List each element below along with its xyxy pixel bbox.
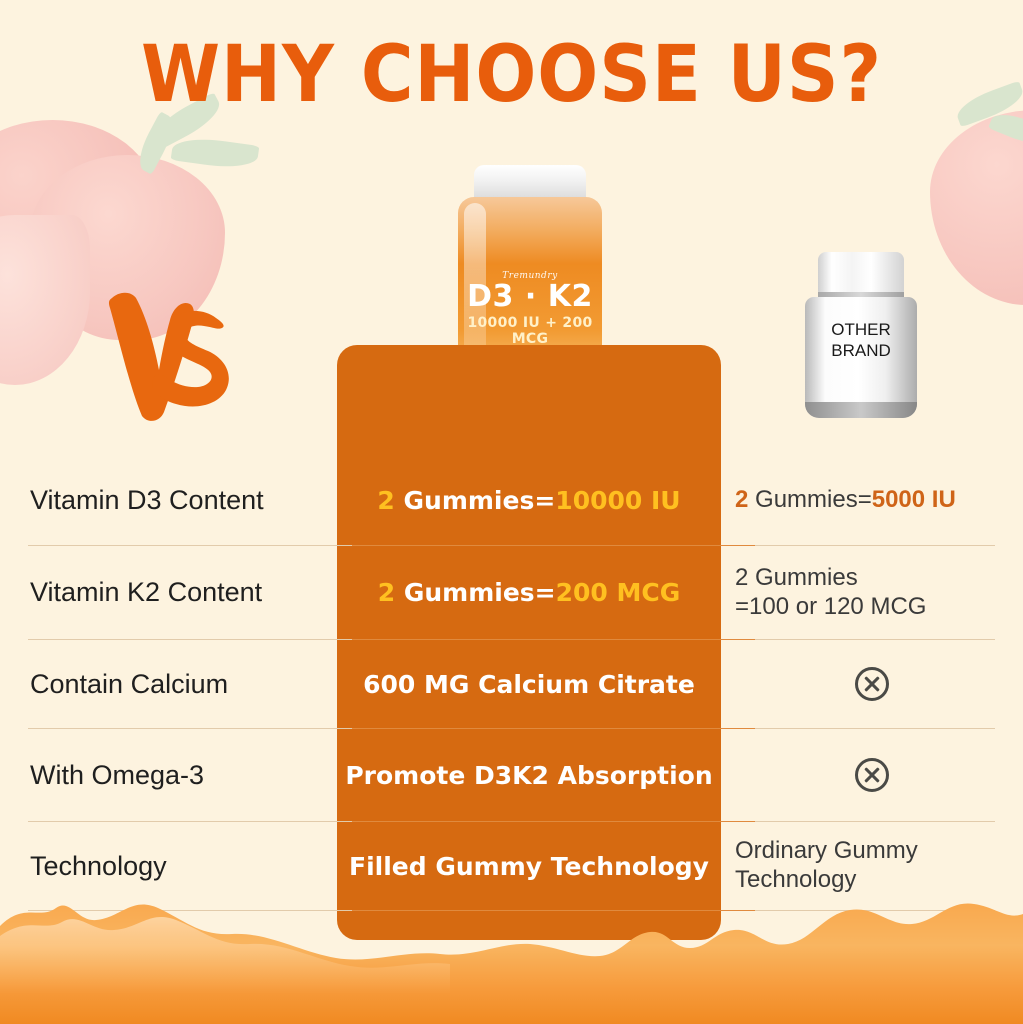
strawberry-decoration-right	[930, 110, 1023, 305]
table-row: Contain Calcium 600 MG Calcium Citrate	[0, 640, 1023, 728]
our-value-mid: Gummies=	[395, 486, 555, 515]
other-value: 2 Gummies=5000 IU	[721, 455, 1023, 545]
other-brand-bottle-cap	[818, 252, 904, 294]
our-value-qty: 2	[377, 486, 394, 515]
feature-label: Contain Calcium	[0, 640, 337, 728]
our-value: Filled Gummy Technology	[337, 822, 721, 910]
table-row: Vitamin K2 Content 2 Gummies=200 MCG 2 G…	[0, 546, 1023, 639]
our-value-amount: 10000 IU	[555, 486, 680, 515]
vs-badge	[96, 278, 236, 428]
product-dose: 10000 IU + 200 MCG	[458, 315, 602, 347]
circle-x-icon	[855, 758, 889, 792]
other-brand-bottle-base	[805, 402, 917, 418]
other-brand-label: OTHER BRAND	[801, 320, 921, 361]
strawberry-leaf-left-b	[171, 134, 260, 172]
strawberry-leaf-left-c	[132, 111, 180, 174]
comparison-table: Vitamin D3 Content 2 Gummies=10000 IU 2 …	[0, 455, 1023, 911]
our-value: 2 Gummies=200 MCG	[337, 546, 721, 639]
other-brand-label-line-1: OTHER	[801, 320, 921, 341]
table-row: With Omega-3 Promote D3K2 Absorption	[0, 729, 1023, 821]
strawberry-decoration-left-c	[0, 215, 90, 385]
row-divider	[28, 910, 995, 911]
strawberry-leaf-right-b	[988, 108, 1023, 151]
our-value-amount: 200 MCG	[556, 578, 681, 607]
infographic-stage: WHY CHOOSE US? Tremundry D3 ·	[0, 0, 1023, 1024]
our-value: Promote D3K2 Absorption	[337, 729, 721, 821]
other-value	[721, 729, 1023, 821]
circle-x-icon	[855, 667, 889, 701]
our-value: 2 Gummies=10000 IU	[337, 455, 721, 545]
our-value: 600 MG Calcium Citrate	[337, 640, 721, 728]
other-value-amount: 5000 IU	[872, 486, 956, 513]
other-value-line-2: Technology	[735, 866, 856, 893]
other-value-qty: 2	[735, 486, 748, 513]
feature-label: Technology	[0, 822, 337, 910]
other-value-line-1: 2 Gummies	[735, 564, 858, 591]
page-title: WHY CHOOSE US?	[41, 36, 982, 114]
table-row: Technology Filled Gummy Technology Ordin…	[0, 822, 1023, 910]
other-value-mid: Gummies=	[748, 486, 871, 513]
product-name: D3 · K2	[458, 281, 602, 313]
feature-label: Vitamin K2 Content	[0, 546, 337, 639]
table-row: Vitamin D3 Content 2 Gummies=10000 IU 2 …	[0, 455, 1023, 545]
other-value-line-2: =100 or 120 MCG	[735, 593, 926, 620]
other-value: 2 Gummies =100 or 120 MCG	[721, 546, 1023, 639]
feature-label: Vitamin D3 Content	[0, 455, 337, 545]
our-value-mid: Gummies=	[395, 578, 555, 607]
product-bottle-cap	[474, 165, 586, 201]
feature-label: With Omega-3	[0, 729, 337, 821]
product-brand-name: Tremundry	[458, 271, 602, 281]
other-brand-label-line-2: BRAND	[801, 341, 921, 362]
other-brand-bottle: OTHER BRAND	[801, 252, 921, 418]
our-value-qty: 2	[378, 578, 395, 607]
other-value	[721, 640, 1023, 728]
other-value-line-1: Ordinary Gummy	[735, 837, 918, 864]
other-value: Ordinary Gummy Technology	[721, 822, 1023, 910]
